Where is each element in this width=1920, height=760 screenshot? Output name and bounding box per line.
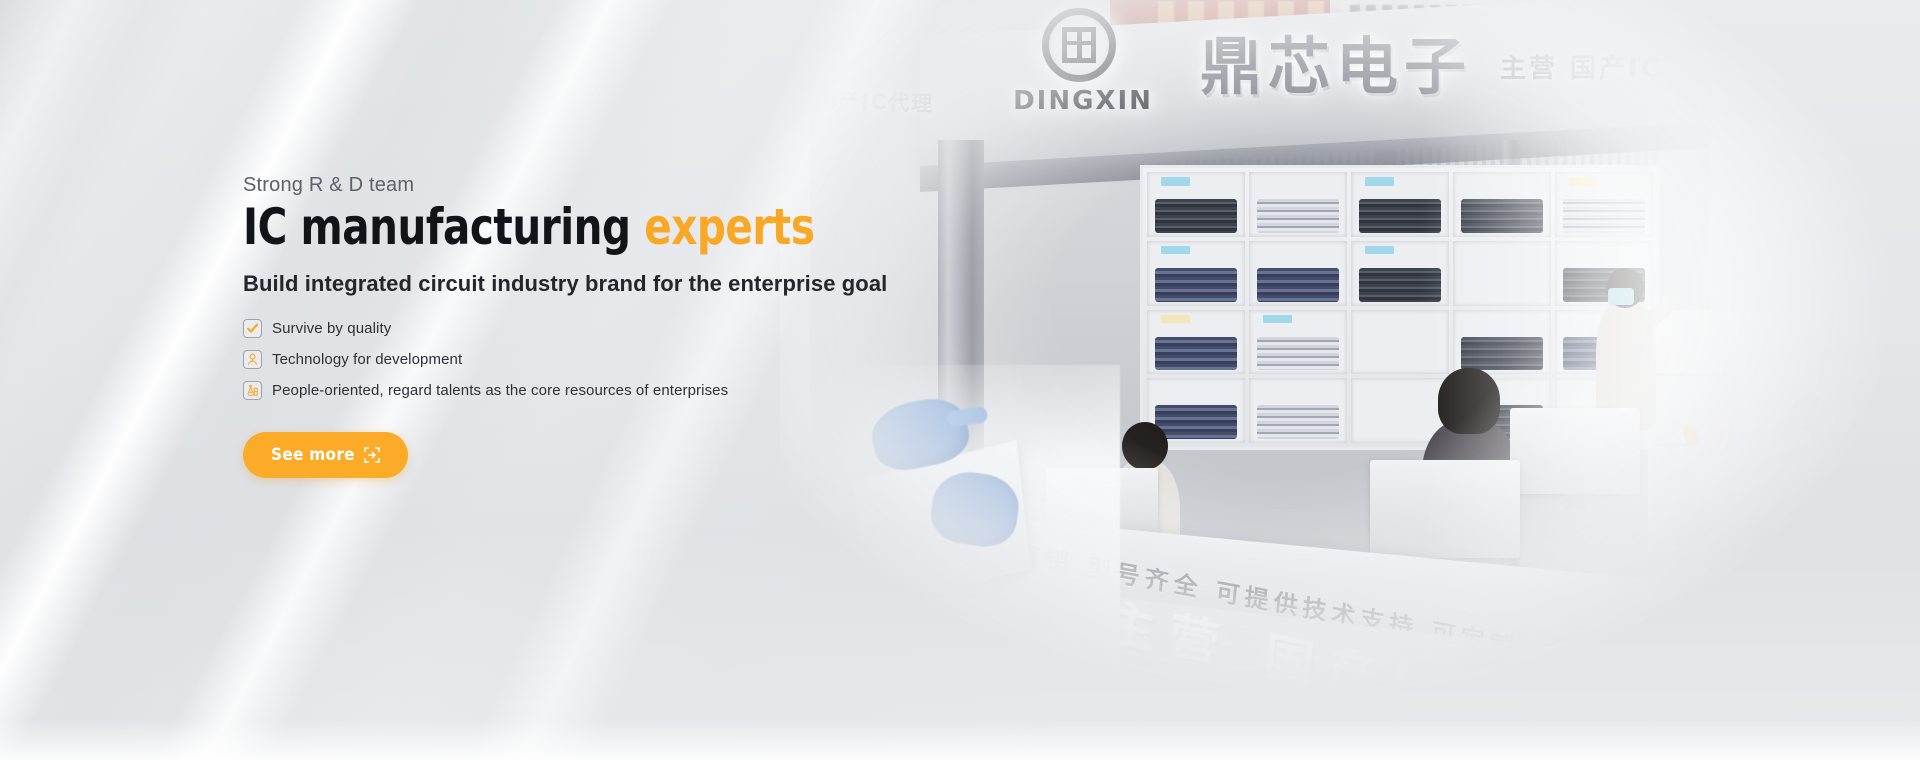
- shelf-cell: [1147, 172, 1245, 237]
- brand-chinese-subtext: 主营 国产IC: [1500, 48, 1663, 85]
- shelf-cell: [1147, 241, 1245, 306]
- headline-accent: [631, 198, 645, 256]
- feature-list: Survive by quality Technology for develo…: [243, 319, 883, 400]
- storefront-photo-composition: DINGXIN 鼎芯电子 主营 国产IC 国产IC代理: [780, 0, 1920, 760]
- flask-icon: [243, 381, 262, 400]
- list-item: Technology for development: [243, 350, 883, 369]
- shelf-cell: [1249, 378, 1347, 443]
- check-icon: [243, 319, 262, 338]
- left-fascia-text: 国产IC代理: [815, 84, 934, 118]
- shelf-cell: [1249, 310, 1347, 375]
- desktop-monitor: [1690, 460, 1830, 552]
- hero-photo: DINGXIN 鼎芯电子 主营 国产IC 国产IC代理: [780, 0, 1920, 760]
- see-more-label: See more: [271, 445, 355, 465]
- hero-banner: DINGXIN 鼎芯电子 主营 国产IC 国产IC代理: [0, 0, 1920, 760]
- page-title: IC manufacturing experts: [243, 202, 819, 253]
- subtitle-text: Build integrated circuit industry brand …: [243, 271, 883, 297]
- shelf-cell: [1453, 241, 1551, 306]
- list-item: Survive by quality: [243, 319, 883, 338]
- expand-arrow-icon: [364, 447, 380, 463]
- shelf-cell: [1351, 172, 1449, 237]
- shelf-cell: [1249, 241, 1347, 306]
- list-item-label: Survive by quality: [272, 320, 391, 337]
- eyebrow-text: Strong R & D team: [243, 172, 883, 198]
- list-item: People-oriented, regard talents as the c…: [243, 381, 883, 400]
- headline-accent-text: experts: [644, 198, 814, 256]
- headline-main: IC manufacturing: [243, 198, 631, 256]
- shelf-cell: [1147, 310, 1245, 375]
- logo-glyph: [1062, 27, 1096, 63]
- lucky-cat-figurine: [1690, 416, 1734, 456]
- see-more-button[interactable]: See more: [243, 432, 408, 478]
- desktop-monitor: [1510, 408, 1640, 494]
- dingxin-logo-icon: [1042, 8, 1116, 82]
- person-icon: [243, 350, 262, 369]
- brand-latin-text: DINGXIN: [998, 86, 1168, 116]
- list-item-label: People-oriented, regard talents as the c…: [272, 382, 728, 399]
- brand-chinese-text: 鼎芯电子: [1200, 16, 1472, 106]
- shelf-cell: [1351, 310, 1449, 375]
- hero-content: Strong R & D team IC manufacturing exper…: [243, 172, 883, 478]
- shelf-cell: [1555, 172, 1653, 237]
- desktop-monitor: [1370, 460, 1520, 558]
- list-item-label: Technology for development: [272, 351, 462, 368]
- shelf-cell: [1453, 172, 1551, 237]
- shelf-cell: [1249, 172, 1347, 237]
- shelf-cell: [1351, 241, 1449, 306]
- shelf-cell: [1453, 310, 1551, 375]
